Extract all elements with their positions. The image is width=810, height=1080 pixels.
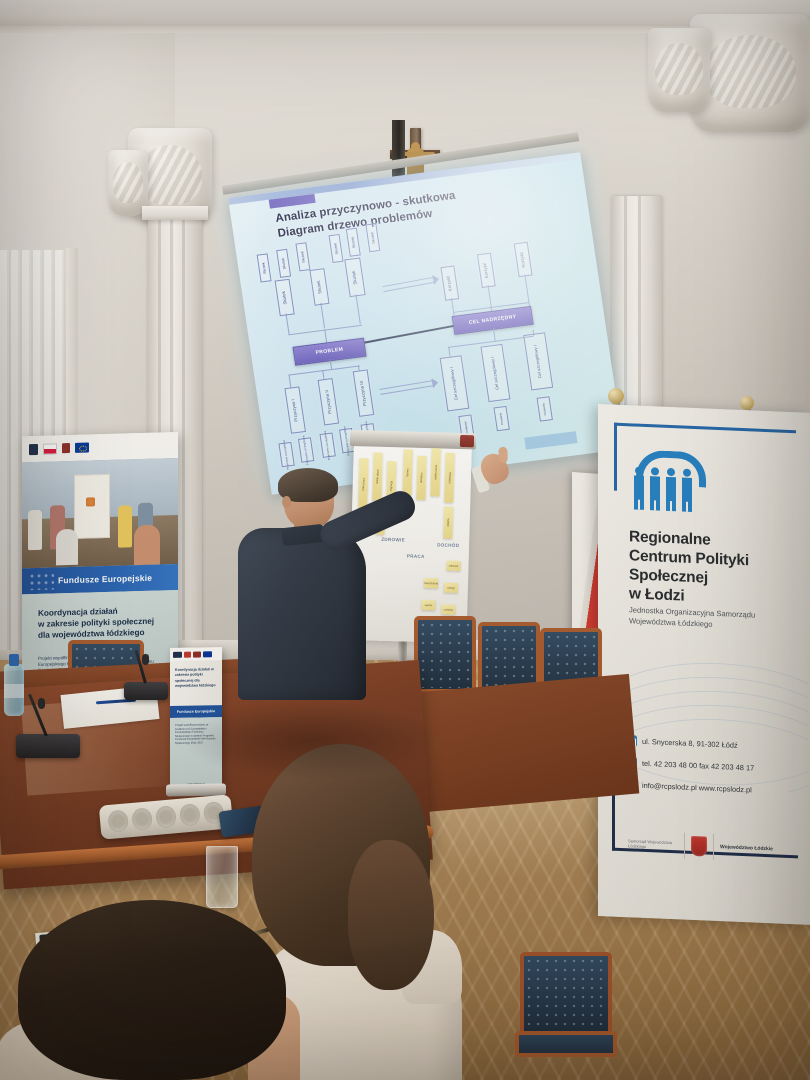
presenter-person: [238, 470, 388, 700]
contact-phone: tel. 42 203 48 00 fax 42 203 48 17: [642, 759, 754, 773]
flipchart-handwriting: DOCHÓD: [437, 542, 459, 548]
sticky-note: rodzina: [441, 605, 455, 615]
sticky-note: opieka: [443, 507, 453, 539]
sticky-note: wykluczenie: [430, 448, 440, 496]
contact-web: info@rcpslodz.pl www.rcpslodz.pl: [642, 781, 752, 795]
footer-right-text: Województwo Łódzkie: [720, 844, 773, 852]
rollup-banner-rcps: Regionalne Centrum Polityki Społecznej w…: [598, 404, 810, 925]
pilaster-capital-left: [142, 206, 208, 220]
flipchart-handwriting: PRACA: [407, 554, 425, 559]
attendee-left-hair: [18, 900, 286, 1080]
stucco-ornament-right-small: [648, 28, 710, 112]
microphone: [16, 700, 80, 758]
banner-rule-vertical: [614, 423, 617, 491]
flipchart-clamp: [350, 430, 476, 450]
banner-photo: [22, 458, 178, 568]
banner-headline: Koordynacja działań w zakresie polityki …: [38, 604, 166, 641]
bottle-cap: [9, 654, 19, 666]
flag-pole-finial: [608, 388, 624, 404]
footer-left-text: Samorząd Województwa Łódzkiego: [628, 838, 678, 850]
eu-flag-icon: [75, 442, 89, 452]
photo-flipchart: [74, 474, 110, 539]
sticky-note: mieszkania: [424, 578, 438, 588]
contact-address: ul. Snycerska 8, 91-302 Łódź: [642, 737, 738, 750]
rcps-logo-icon: [630, 449, 698, 514]
presenter-suit: [238, 528, 366, 700]
rcps-organisation-name: Regionalne Centrum Polityki Społecznej w…: [629, 527, 799, 610]
banner-rule-horizontal: [614, 423, 796, 434]
rcps-contact-block: ul. Snycerska 8, 91-302 Łódź tel. 42 203…: [626, 735, 806, 809]
attendee-left: [18, 900, 308, 1080]
drinking-glass: [206, 846, 238, 908]
microphone: [124, 656, 168, 700]
rcps-subtitle: Jednostka Organizacyjna Samorządu Wojewó…: [629, 605, 797, 633]
samorzad-logo-icon: [62, 442, 70, 455]
poland-flag-icon: [43, 443, 57, 454]
banner-headline-line3: dla województwa łódzkiego: [38, 626, 166, 641]
sticky-note: zdrowie: [446, 561, 460, 571]
funduszе-europejskie-logo-icon: [29, 442, 38, 455]
lodz-crest-icon: [691, 836, 707, 857]
flag-pole-finial-secondary: [740, 396, 754, 410]
banner-footer-logos: Samorząd Województwa Łódzkiego Województ…: [628, 823, 804, 870]
conference-room-photo: Analiza przyczynowo - skutkowa Diagram d…: [0, 0, 810, 1080]
ceiling-cornice: [0, 0, 810, 26]
sticky-note: usługi: [444, 583, 458, 593]
sticky-note: senior: [421, 600, 435, 610]
sticky-note: edukacja: [444, 453, 454, 503]
chair: [520, 952, 612, 1080]
desk-banner-headline: Koordynacja działań w zakresie polityki …: [175, 667, 217, 689]
sticky-note: ubóstwo: [416, 456, 426, 500]
desk-banner-logos: [170, 647, 222, 661]
sticky-note: bariery: [402, 449, 412, 495]
